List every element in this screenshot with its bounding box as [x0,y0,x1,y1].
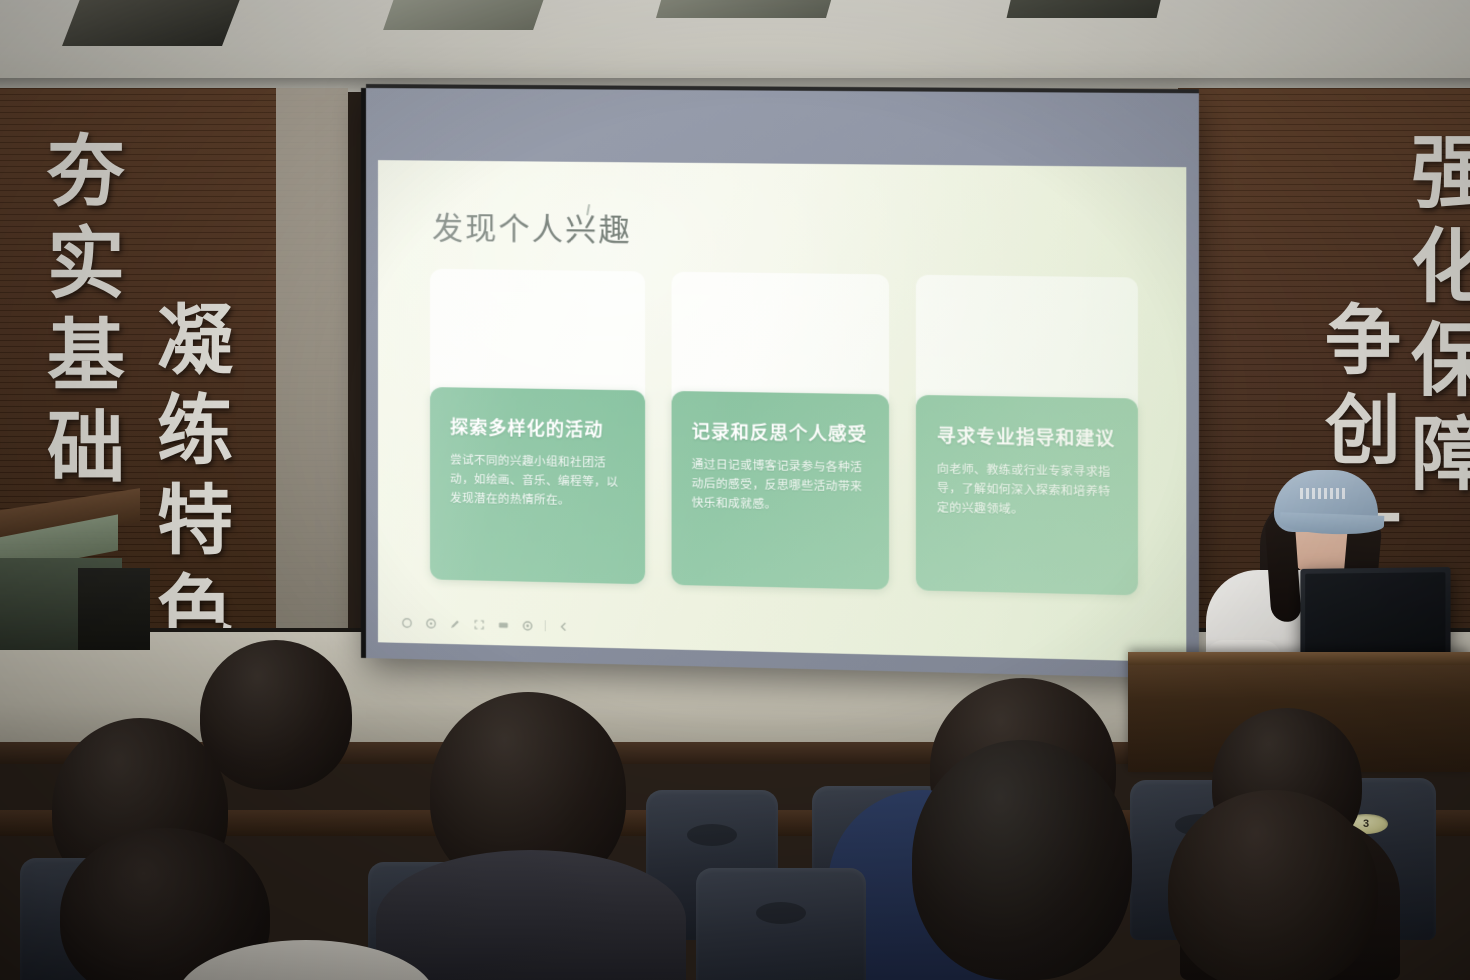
slide-card[interactable]: 记录和反思个人感受 通过日记或博客记录参与各种活动后的感受，反思哪些活动带来快乐… [671,272,889,590]
wall-calligraphy-left-1: 夯实基础 [40,130,118,498]
circle-dot-icon[interactable] [424,616,437,629]
slide-toolbar[interactable] [400,616,570,633]
slide-card-title: 探索多样化的活动 [450,413,624,442]
chevron-left-icon[interactable] [557,620,570,633]
seat-dimple [756,902,806,924]
projected-slide: 发现个人兴趣 探索多样化的活动 尝试不同的兴趣小组和社团活动，如绘画、音乐、编程… [378,160,1186,662]
slide-card-body: 探索多样化的活动 尝试不同的兴趣小组和社团活动，如绘画、音乐、编程等，以发现潜在… [430,387,645,584]
rectangle-icon[interactable] [496,618,509,631]
slide-card[interactable]: 寻求专业指导和建议 向老师、教练或行业专家寻求指导，了解如何深入探索和培养特定的… [916,275,1138,596]
slide-card-title: 记录和反思个人感受 [692,418,869,447]
slide-card-body: 寻求专业指导和建议 向老师、教练或行业专家寻求指导，了解如何深入探索和培养特定的… [916,395,1138,595]
slide-card-text: 向老师、教练或行业专家寻求指导，了解如何深入探索和培养特定的兴趣领域。 [937,460,1117,522]
slide-card-text: 尝试不同的兴趣小组和社团活动，如绘画、音乐、编程等，以发现潜在的热情所在。 [450,452,624,513]
slide-card-body: 记录和反思个人感受 通过日记或博客记录参与各种活动后的感受，反思哪些活动带来快乐… [671,391,889,590]
ceiling-light-panel [1007,0,1164,18]
ceiling-light-panel [656,0,834,18]
slide-card[interactable]: 探索多样化的活动 尝试不同的兴趣小组和社团活动，如绘画、音乐、编程等，以发现潜在… [430,269,645,584]
projection-screen: 发现个人兴趣 探索多样化的活动 尝试不同的兴趣小组和社团活动，如绘画、音乐、编程… [366,88,1199,679]
slide-card-text: 通过日记或博客记录参与各种活动后的感受，反思哪些活动带来快乐和成就感。 [692,456,869,517]
pencil-icon[interactable] [448,617,461,630]
screen-edge [361,88,366,658]
ceiling-light-panel [62,0,242,46]
toolbar-divider [545,620,546,631]
slide-cards: 探索多样化的活动 尝试不同的兴趣小组和社团活动，如绘画、音乐、编程等，以发现潜在… [430,269,1138,596]
seat-dimple [687,824,737,846]
podium-side [78,568,150,650]
expand-icon[interactable] [472,618,485,631]
circle-icon[interactable] [400,616,413,629]
side-podium [0,500,150,650]
wall-panel-left [276,88,348,688]
audience-shoulders [376,850,686,980]
ceiling-light-panel [383,0,547,30]
presenter-cap-logo [1300,488,1348,499]
audience-head [912,740,1132,980]
lecture-hall-scene: 夯实基础 凝练特色 强化保障 争创一 发现个人兴趣 探索多样化的活动 尝试不同的… [0,0,1470,980]
seat[interactable] [696,868,866,980]
slide-card-title: 寻求专业指导和建议 [937,422,1117,452]
wall-calligraphy-left-2: 凝练特色 [150,300,226,660]
audience-seating: 3 4 [0,640,1470,980]
wall-calligraphy-right-1: 强化保障 [1405,130,1470,506]
audience-head [200,640,352,790]
audience-head [1168,790,1378,980]
slide-title: 发现个人兴趣 [432,203,632,250]
gear-icon[interactable] [521,619,534,632]
